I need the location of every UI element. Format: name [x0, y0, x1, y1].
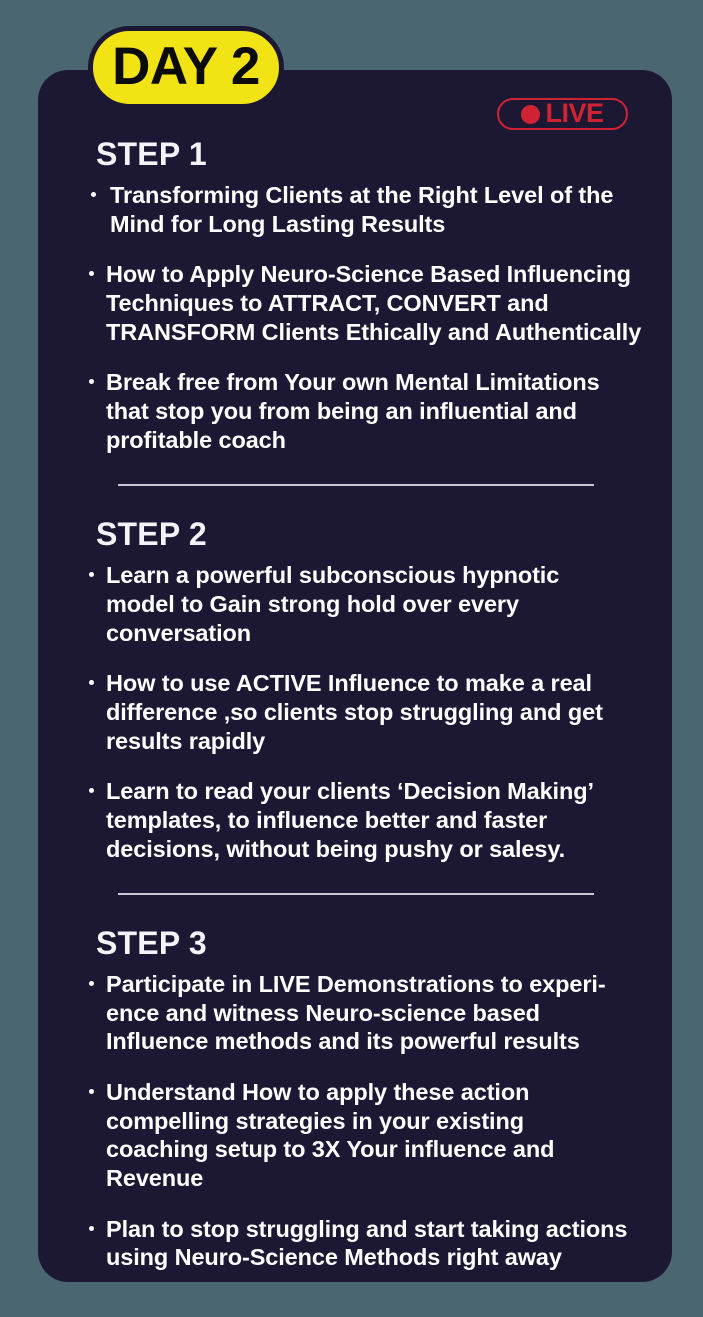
step-section-1: STEP 1 Transforming Clients at the Right…: [38, 136, 672, 454]
step-section-3: STEP 3 Participate in LIVE Demonstration…: [38, 925, 672, 1272]
record-dot-icon: [521, 105, 540, 124]
day-badge: DAY 2: [88, 26, 284, 109]
live-badge: LIVE: [497, 98, 628, 130]
step-title-1: STEP 1: [96, 136, 672, 173]
section-divider-2: [118, 893, 594, 895]
list-item: Learn to read your clients ‘Decision Mak…: [58, 777, 672, 863]
section-divider-1: [118, 484, 594, 486]
list-item: Break free from Your own Mental Limitati…: [58, 368, 672, 454]
list-item: Participate in LIVE Demonstrations to ex…: [58, 970, 672, 1056]
list-item: How to Apply Neuro-Science Based Influen…: [58, 260, 672, 346]
steps-list: STEP 1 Transforming Clients at the Right…: [38, 136, 672, 1272]
day-badge-label: DAY 2: [112, 40, 260, 96]
step-title-2: STEP 2: [96, 516, 672, 553]
step-2-bullets: Learn a powerful subconscious hypnotic m…: [38, 561, 672, 863]
step-section-2: STEP 2 Learn a powerful subconscious hyp…: [38, 516, 672, 863]
step-1-bullets: Transforming Clients at the Right Level …: [38, 181, 672, 454]
live-badge-label: LIVE: [545, 100, 603, 129]
list-item: How to use ACTIVE Influence to make a re…: [58, 669, 672, 755]
step-3-bullets: Participate in LIVE Demonstrations to ex…: [38, 970, 672, 1272]
list-item: Understand How to apply these action com…: [58, 1078, 672, 1193]
day-agenda-card: LIVE STEP 1 Transforming Clients at the …: [38, 70, 672, 1282]
list-item: Learn a powerful subconscious hypnotic m…: [58, 561, 672, 647]
list-item: Plan to stop struggling and start taking…: [58, 1215, 672, 1272]
list-item: Transforming Clients at the Right Level …: [58, 181, 672, 238]
step-title-3: STEP 3: [96, 925, 672, 962]
